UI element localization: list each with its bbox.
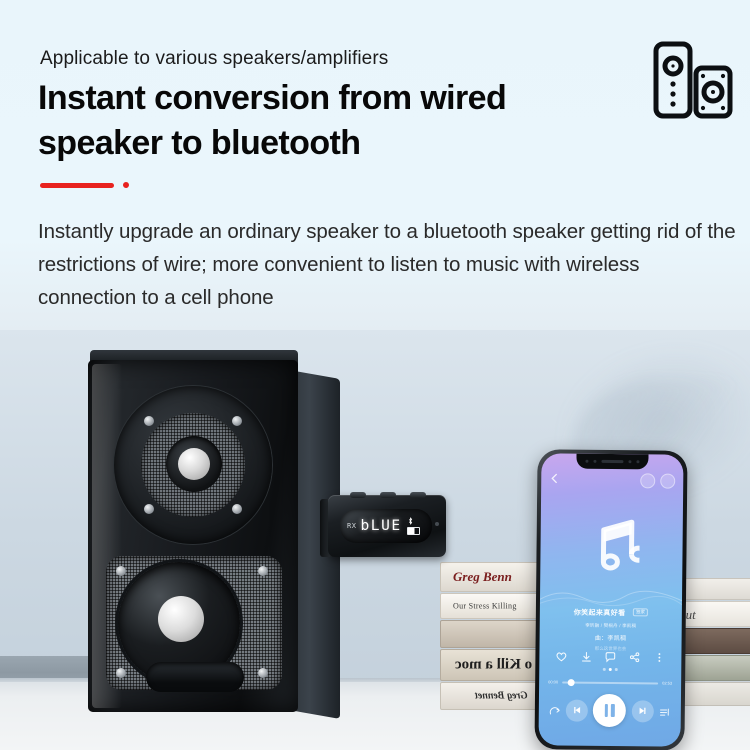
product-photo: Greg Benn Our Stress Killing o Kill a mo… <box>0 330 750 750</box>
tweeter-driver <box>114 386 272 544</box>
speaker-grille-icon <box>601 460 623 463</box>
song-action-row <box>539 649 681 662</box>
smartphone-music-player[interactable]: 你笑起来真好看 独家 李昕融 / 樊桐舟 / 李凯稠 曲：李凯稠 那么这世界也会 <box>534 449 687 750</box>
eyebrow-text: Applicable to various speakers/amplifier… <box>40 48 388 70</box>
book-title: Greg Benn <box>453 569 512 585</box>
screw-icon <box>116 566 126 576</box>
share-icon[interactable] <box>629 650 641 662</box>
receiver-led-indicator <box>435 522 439 526</box>
sensor-icon <box>628 460 631 463</box>
page-dot-active <box>609 668 612 671</box>
song-tag: 独家 <box>633 608 648 616</box>
accent-bar <box>40 183 114 188</box>
phone-notch <box>576 454 648 470</box>
bluetooth-icon <box>407 517 414 525</box>
screw-icon <box>144 416 154 426</box>
download-icon[interactable] <box>580 650 592 662</box>
receiver-button[interactable] <box>380 492 396 498</box>
time-total: 02:53 <box>662 681 672 686</box>
heart-icon[interactable] <box>556 649 568 661</box>
song-subtitle: 李昕融 / 樊桐舟 / 李凯稠 <box>540 622 682 629</box>
pause-icon[interactable] <box>593 694 626 727</box>
share-circle-icon[interactable] <box>660 474 675 489</box>
progress-knob[interactable] <box>567 679 574 686</box>
accent-underline <box>40 182 129 188</box>
pause-bar <box>605 704 609 717</box>
page-dot <box>603 668 606 671</box>
accent-dot <box>123 182 129 188</box>
body-copy: Instantly upgrade an ordinary speaker to… <box>38 215 738 315</box>
receiver-button[interactable] <box>350 492 366 498</box>
speaker-pair-icon <box>652 40 742 140</box>
camera-icon <box>585 460 588 463</box>
book-title: Greg Bennet <box>475 691 528 702</box>
header-section: Applicable to various speakers/amplifier… <box>0 0 750 330</box>
screw-icon <box>232 504 242 514</box>
playback-controls <box>539 693 681 727</box>
more-icon[interactable] <box>653 650 665 662</box>
screw-icon <box>258 566 268 576</box>
sensor-icon <box>593 460 596 463</box>
screw-icon <box>232 416 242 426</box>
page-dot <box>615 668 618 671</box>
camera-icon <box>636 460 639 463</box>
tweeter-dome <box>178 448 210 480</box>
book-title: Our Stress Killing <box>453 602 517 611</box>
screen-top-actions <box>640 473 675 488</box>
screw-icon <box>116 668 126 678</box>
bookshelf-speaker <box>88 360 334 712</box>
time-elapsed: 00:00 <box>548 679 558 684</box>
comment-icon[interactable] <box>604 650 616 662</box>
back-icon[interactable] <box>549 473 559 483</box>
playlist-icon[interactable] <box>659 705 671 717</box>
headline-line-1: Instant conversion from wired <box>38 76 638 121</box>
bluetooth-receiver: RX bLUE <box>326 495 448 561</box>
pause-bar <box>611 704 615 717</box>
headline-line-2: speaker to bluetooth <box>38 121 638 166</box>
receiver-mode-label: RX <box>347 522 356 530</box>
product-marketing-page: Applicable to various speakers/amplifier… <box>0 0 750 750</box>
progress-bar[interactable]: 00:00 02:53 <box>548 679 672 685</box>
progress-track[interactable] <box>562 681 658 684</box>
page-indicator <box>603 668 618 671</box>
receiver-display-value: bLUE <box>360 518 401 534</box>
battery-icon <box>407 527 420 535</box>
page-title: Instant conversion from wired speaker to… <box>38 76 638 166</box>
song-info: 你笑起来真好看 独家 李昕融 / 樊桐舟 / 李凯稠 曲：李凯稠 那么这世界也会 <box>539 601 682 652</box>
screw-icon <box>144 504 154 514</box>
book-title: o Kill a moc <box>455 657 532 674</box>
bass-port <box>146 662 244 692</box>
minimize-icon[interactable] <box>640 473 655 488</box>
song-title: 你笑起来真好看 <box>574 608 626 619</box>
music-note-icon <box>583 512 640 575</box>
receiver-body: RX bLUE <box>328 495 446 557</box>
receiver-button[interactable] <box>410 492 426 498</box>
phone-screen: 你笑起来真好看 独家 李昕融 / 樊桐舟 / 李凯稠 曲：李凯稠 那么这世界也会 <box>538 453 683 746</box>
receiver-status-icons <box>407 517 420 535</box>
next-icon[interactable] <box>632 700 654 722</box>
song-artist: 曲：李凯稠 <box>540 632 682 642</box>
woofer-dome <box>158 596 204 642</box>
receiver-display: RX bLUE <box>340 509 432 543</box>
speaker-front-baffle <box>88 360 298 712</box>
shuffle-icon[interactable] <box>548 704 560 716</box>
screw-icon <box>258 668 268 678</box>
song-title-row: 你笑起来真好看 独家 <box>540 601 682 620</box>
previous-icon[interactable] <box>566 699 588 721</box>
